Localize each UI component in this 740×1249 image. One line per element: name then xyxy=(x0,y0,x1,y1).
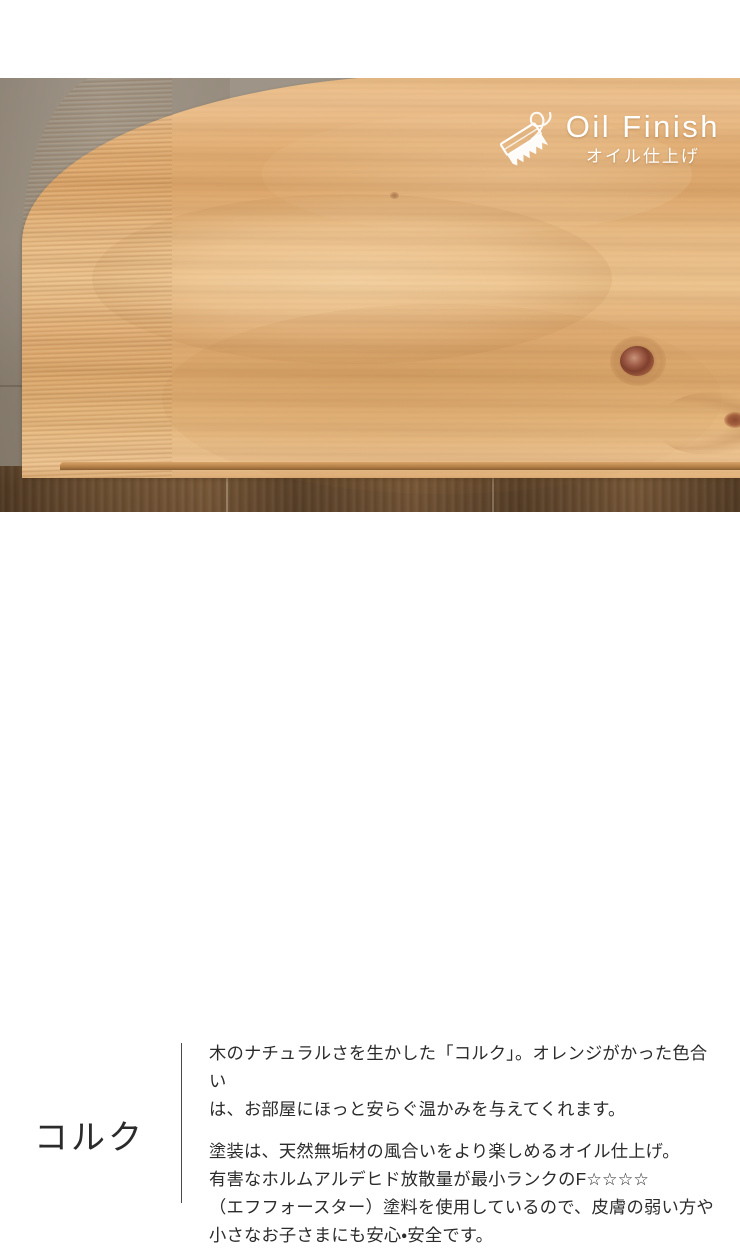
description-paragraph-2: 塗装は、天然無垢材の風合いをより楽しめるオイル仕上げ。 有害なホルムアルデヒド放… xyxy=(209,1137,719,1249)
wood-knot-tiny xyxy=(390,192,399,199)
table-edge-texture xyxy=(22,78,172,478)
page-root: Oil Finish オイル仕上げ コルク 木のナチュラルさを生かした「コルク」… xyxy=(0,0,740,740)
table-front-edge xyxy=(60,462,740,470)
badge-text-group: Oil Finish オイル仕上げ xyxy=(566,111,724,167)
paint-brush-icon xyxy=(498,108,560,174)
badge-title: Oil Finish xyxy=(566,111,720,144)
vertical-divider xyxy=(181,1043,182,1203)
wood-knot-small xyxy=(724,412,740,428)
description-inner: コルク 木のナチュラルさを生かした「コルク」。オレンジがかった色合い は、お部屋… xyxy=(0,512,740,740)
wood-knot-large xyxy=(620,346,654,376)
description-paragraph-1: 木のナチュラルさを生かした「コルク」。オレンジがかった色合い は、お部屋にほっと… xyxy=(209,1039,719,1123)
product-color-heading: コルク xyxy=(34,1110,184,1159)
description-section: コルク 木のナチュラルさを生かした「コルク」。オレンジがかった色合い は、お部屋… xyxy=(0,512,740,740)
oil-finish-badge: Oil Finish オイル仕上げ xyxy=(498,104,724,174)
badge-subtitle: オイル仕上げ xyxy=(566,147,720,167)
product-photo: Oil Finish オイル仕上げ xyxy=(0,78,740,512)
description-paragraphs: 木のナチュラルさを生かした「コルク」。オレンジがかった色合い は、お部屋にほっと… xyxy=(209,1039,719,1249)
